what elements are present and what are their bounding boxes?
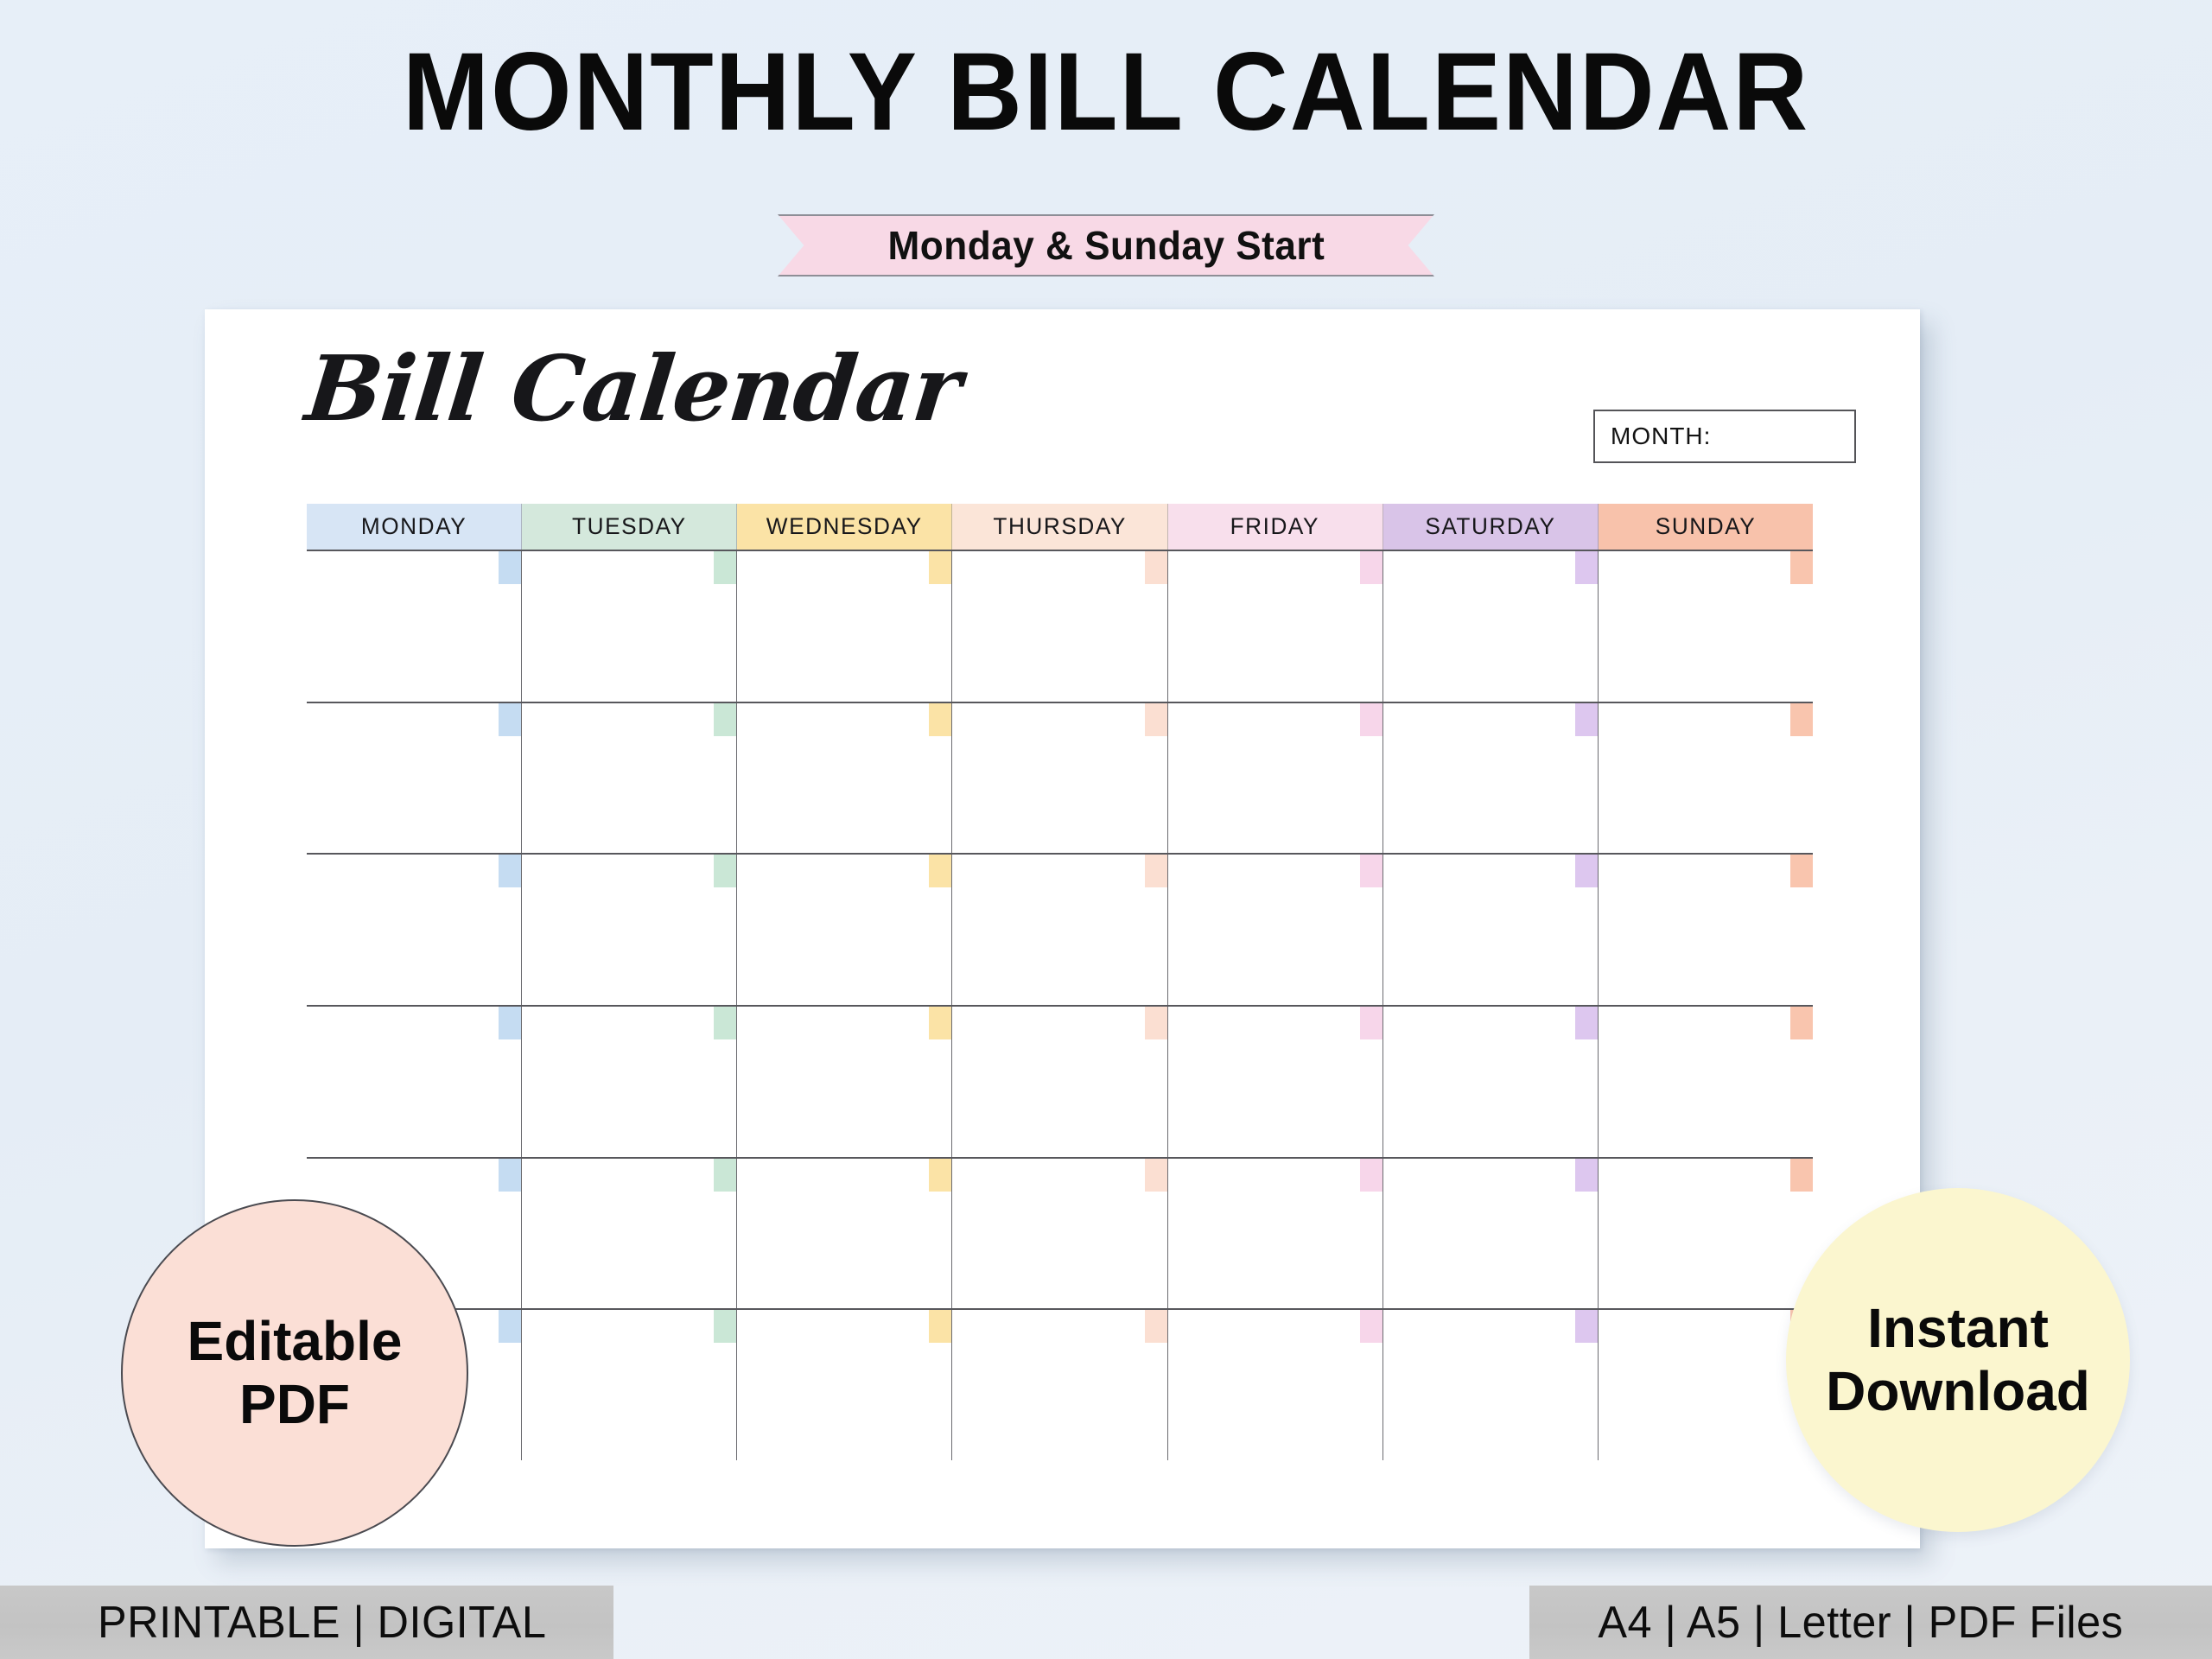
day-color-tab [499, 1007, 521, 1039]
calendar-day-cell[interactable] [952, 551, 1167, 702]
calendar-week-row [307, 1310, 1813, 1460]
calendar-day-cell[interactable] [1168, 1310, 1383, 1460]
calendar-grid: MONDAYTUESDAYWEDNESDAYTHURSDAYFRIDAYSATU… [307, 504, 1813, 1459]
badge-editable-line1: Editable [188, 1310, 403, 1373]
calendar-day-cell[interactable] [307, 855, 522, 1005]
calendar-day-cell[interactable] [737, 551, 952, 702]
day-header-wednesday: WEDNESDAY [737, 504, 952, 550]
footer-bar-right: A4 | A5 | Letter | PDF Files [1529, 1586, 2212, 1659]
calendar-day-cell[interactable] [737, 855, 952, 1005]
day-color-tab [1145, 551, 1167, 584]
day-color-tab [929, 855, 951, 887]
calendar-day-cell[interactable] [1383, 551, 1599, 702]
calendar-day-cell[interactable] [1383, 1310, 1599, 1460]
calendar-day-cell[interactable] [522, 1007, 737, 1157]
day-color-tab [1360, 855, 1382, 887]
day-color-tab [499, 855, 521, 887]
calendar-day-cell[interactable] [952, 1007, 1167, 1157]
day-color-tab [499, 1159, 521, 1192]
footer-bar-left: PRINTABLE | DIGITAL [0, 1586, 613, 1659]
day-header-saturday: SATURDAY [1383, 504, 1599, 550]
ribbon-shape: Monday & Sunday Start [778, 214, 1434, 276]
calendar-day-cell[interactable] [1383, 1007, 1599, 1157]
day-color-tab [1790, 551, 1813, 584]
calendar-day-cell[interactable] [1168, 703, 1383, 854]
day-color-tab [714, 855, 736, 887]
day-color-tab [499, 703, 521, 736]
calendar-week-row [307, 703, 1813, 855]
day-color-tab [1575, 1159, 1598, 1192]
day-color-tab [499, 1310, 521, 1343]
calendar-day-cell[interactable] [1599, 855, 1813, 1005]
calendar-day-cell[interactable] [952, 855, 1167, 1005]
day-color-tab [929, 1159, 951, 1192]
day-color-tab [1145, 1159, 1167, 1192]
calendar-day-cell[interactable] [307, 551, 522, 702]
day-header-label: TUESDAY [572, 513, 687, 540]
calendar-day-cell[interactable] [952, 1310, 1167, 1460]
day-color-tab [1575, 703, 1598, 736]
calendar-day-cell[interactable] [1599, 1007, 1813, 1157]
day-color-tab [1360, 551, 1382, 584]
day-header-sunday: SUNDAY [1599, 504, 1813, 550]
calendar-day-cell[interactable] [1599, 1310, 1813, 1460]
ribbon-banner: Monday & Sunday Start [778, 214, 1434, 276]
badge-instant-download: Instant Download [1786, 1188, 2130, 1532]
listing-image-canvas: MONTHLY BILL CALENDAR Monday & Sunday St… [0, 0, 2212, 1659]
day-header-label: MONDAY [361, 513, 467, 540]
day-color-tab [714, 1007, 736, 1039]
calendar-day-cell[interactable] [737, 1310, 952, 1460]
day-color-tab [929, 1310, 951, 1343]
calendar-day-cell[interactable] [1168, 1159, 1383, 1309]
badge-editable-line2: PDF [239, 1373, 350, 1436]
day-color-tab [1145, 703, 1167, 736]
day-color-tab [1790, 703, 1813, 736]
day-header-label: SATURDAY [1425, 513, 1555, 540]
day-header-label: SUNDAY [1656, 513, 1757, 540]
day-color-tab [1145, 1310, 1167, 1343]
calendar-day-cell[interactable] [1383, 703, 1599, 854]
calendar-day-cell[interactable] [952, 1159, 1167, 1309]
calendar-week-row [307, 551, 1813, 703]
calendar-day-cell[interactable] [1168, 551, 1383, 702]
calendar-day-cell[interactable] [952, 703, 1167, 854]
day-header-tuesday: TUESDAY [522, 504, 737, 550]
calendar-day-cell[interactable] [1383, 855, 1599, 1005]
day-color-tab [714, 551, 736, 584]
month-input-box[interactable]: MONTH: [1593, 410, 1856, 463]
calendar-day-cell[interactable] [1599, 551, 1813, 702]
day-header-thursday: THURSDAY [952, 504, 1167, 550]
day-color-tab [1360, 1007, 1382, 1039]
calendar-day-cell[interactable] [522, 855, 737, 1005]
ribbon-label: Monday & Sunday Start [887, 222, 1325, 269]
day-header-row: MONDAYTUESDAYWEDNESDAYTHURSDAYFRIDAYSATU… [307, 504, 1813, 550]
page-title: MONTHLY BILL CALENDAR [67, 33, 2145, 152]
calendar-day-cell[interactable] [1599, 1159, 1813, 1309]
bill-calendar-script-title: Bill Calendar [302, 335, 966, 442]
day-header-friday: FRIDAY [1168, 504, 1383, 550]
day-color-tab [499, 551, 521, 584]
badge-editable-pdf: Editable PDF [121, 1199, 468, 1547]
day-color-tab [1575, 855, 1598, 887]
day-header-monday: MONDAY [307, 504, 522, 550]
day-color-tab [1145, 855, 1167, 887]
day-color-tab [1575, 1007, 1598, 1039]
day-color-tab [1360, 1159, 1382, 1192]
calendar-day-cell[interactable] [522, 551, 737, 702]
calendar-day-cell[interactable] [307, 1007, 522, 1157]
calendar-day-cell[interactable] [307, 703, 522, 854]
calendar-day-cell[interactable] [1599, 703, 1813, 854]
calendar-day-cell[interactable] [737, 1159, 952, 1309]
calendar-day-cell[interactable] [1168, 1007, 1383, 1157]
calendar-week-row [307, 855, 1813, 1007]
day-header-label: WEDNESDAY [766, 513, 923, 540]
day-color-tab [1790, 1159, 1813, 1192]
badge-instant-line1: Instant [1867, 1297, 2049, 1360]
badge-instant-line2: Download [1826, 1360, 2090, 1423]
calendar-day-cell[interactable] [1383, 1159, 1599, 1309]
day-color-tab [1360, 1310, 1382, 1343]
calendar-week-row [307, 1159, 1813, 1311]
calendar-day-cell[interactable] [737, 1007, 952, 1157]
day-color-tab [929, 703, 951, 736]
day-color-tab [929, 1007, 951, 1039]
footer-right-text: A4 | A5 | Letter | PDF Files [1598, 1597, 2123, 1649]
day-color-tab [714, 1159, 736, 1192]
day-color-tab [714, 1310, 736, 1343]
day-color-tab [1575, 551, 1598, 584]
calendar-day-cell[interactable] [522, 703, 737, 854]
calendar-week-row [307, 1007, 1813, 1159]
day-header-label: THURSDAY [993, 513, 1127, 540]
day-color-tab [1360, 703, 1382, 736]
calendar-grid-body [307, 550, 1813, 1460]
calendar-day-cell[interactable] [737, 703, 952, 854]
day-header-label: FRIDAY [1230, 513, 1319, 540]
calendar-day-cell[interactable] [522, 1159, 737, 1309]
month-label: MONTH: [1595, 423, 1711, 450]
calendar-day-cell[interactable] [522, 1310, 737, 1460]
day-color-tab [929, 551, 951, 584]
footer-left-text: PRINTABLE | DIGITAL [98, 1597, 546, 1649]
day-color-tab [1145, 1007, 1167, 1039]
day-color-tab [1790, 855, 1813, 887]
day-color-tab [714, 703, 736, 736]
day-color-tab [1575, 1310, 1598, 1343]
day-color-tab [1790, 1007, 1813, 1039]
calendar-day-cell[interactable] [1168, 855, 1383, 1005]
